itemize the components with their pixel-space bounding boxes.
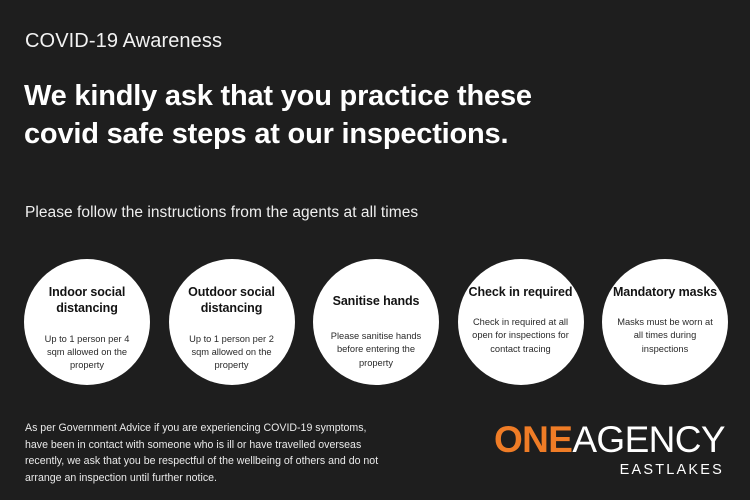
logo-word-one: ONE	[494, 419, 572, 460]
badge-title: Outdoor social distancing	[178, 284, 286, 317]
safety-step-outdoor-social-distancing: Outdoor social distancing Up to 1 person…	[169, 259, 295, 385]
safety-step-check-in-required: Check in required Check in required at a…	[458, 259, 584, 385]
logo-wordmark: ONEAGENCY	[481, 421, 725, 458]
covid-awareness-poster: COVID-19 Awareness We kindly ask that yo…	[0, 0, 750, 500]
safety-step-indoor-social-distancing: Indoor social distancing Up to 1 person …	[24, 259, 150, 385]
badge-body: Up to 1 person per 4 sqm allowed on the …	[35, 333, 139, 373]
one-agency-logo: ONEAGENCY EASTLAKES	[481, 421, 725, 478]
badge-title: Sanitise hands	[322, 293, 430, 309]
logo-word-agency: AGENCY	[572, 419, 725, 460]
page-title: We kindly ask that you practice these co…	[24, 78, 584, 153]
subheading-text: Please follow the instructions from the …	[25, 205, 418, 221]
badge-title: Indoor social distancing	[33, 284, 141, 317]
badge-body: Check in required at all open for inspec…	[469, 316, 573, 356]
badge-body: Up to 1 person per 2 sqm allowed on the …	[180, 333, 284, 373]
eyebrow-label: COVID-19 Awareness	[25, 31, 222, 51]
badge-body: Masks must be worn at all times during i…	[613, 316, 717, 356]
badge-title: Check in required	[467, 284, 575, 300]
government-advice-disclaimer: As per Government Advice if you are expe…	[25, 420, 391, 486]
safety-steps-list: Indoor social distancing Up to 1 person …	[24, 259, 728, 385]
badge-body: Please sanitise hands before entering th…	[324, 330, 428, 370]
safety-step-sanitise-hands: Sanitise hands Please sanitise hands bef…	[313, 259, 439, 385]
badge-title: Mandatory masks	[611, 284, 719, 300]
logo-region-label: EASTLAKES	[481, 463, 725, 478]
safety-step-mandatory-masks: Mandatory masks Masks must be worn at al…	[602, 259, 728, 385]
